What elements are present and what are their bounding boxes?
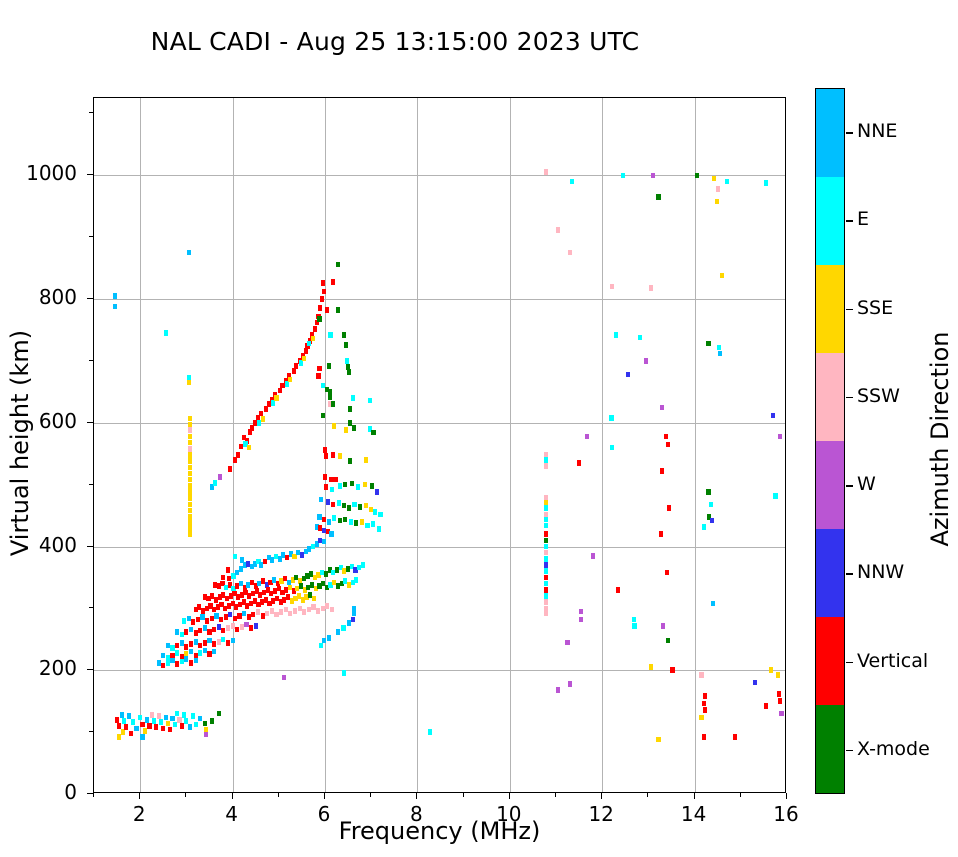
scatter-point <box>354 577 358 583</box>
scatter-point <box>344 342 348 348</box>
scatter-point <box>644 358 648 364</box>
scatter-point <box>210 616 214 622</box>
scatter-point <box>556 227 560 233</box>
scatter-point <box>117 734 121 740</box>
scatter-point <box>117 723 121 729</box>
scatter-point <box>368 398 372 404</box>
scatter-points <box>94 98 785 792</box>
scatter-point <box>342 503 346 509</box>
scatter-point <box>776 672 780 678</box>
scatter-point <box>771 413 775 419</box>
colorbar-tick <box>846 132 853 133</box>
colorbar-tick <box>846 573 853 574</box>
scatter-point <box>328 332 332 338</box>
scatter-point <box>667 505 671 511</box>
scatter-point <box>207 638 211 644</box>
scatter-point <box>317 366 321 372</box>
colorbar-tick <box>846 220 853 221</box>
scatter-point <box>267 401 271 407</box>
scatter-point <box>184 656 188 662</box>
scatter-point <box>188 471 192 477</box>
colorbar-segment[interactable] <box>816 89 844 177</box>
scatter-point <box>244 622 248 628</box>
scatter-point <box>348 406 352 412</box>
scatter-point <box>338 453 342 459</box>
scatter-point <box>274 395 278 401</box>
scatter-point <box>180 723 184 729</box>
scatter-point <box>375 489 379 495</box>
scatter-point <box>188 508 192 514</box>
scatter-point <box>213 480 217 486</box>
scatter-point <box>338 518 342 524</box>
scatter-point <box>321 280 325 286</box>
y-tick <box>87 174 93 175</box>
scatter-point <box>265 611 269 617</box>
scatter-point <box>233 616 237 622</box>
scatter-point <box>323 474 327 480</box>
scatter-point <box>304 348 308 354</box>
scatter-point <box>170 658 174 664</box>
colorbar-segment[interactable] <box>816 353 844 441</box>
y-tick-minor <box>89 731 93 732</box>
scatter-point <box>221 575 225 581</box>
scatter-point <box>194 658 198 664</box>
scatter-point <box>203 625 207 631</box>
scatter-point <box>351 395 355 401</box>
scatter-point <box>226 625 230 631</box>
scatter-point <box>332 423 336 429</box>
scatter-point <box>280 383 284 389</box>
scatter-point <box>251 612 255 618</box>
scatter-point <box>188 531 192 537</box>
scatter-point <box>544 523 548 529</box>
scatter-point <box>188 458 192 464</box>
scatter-point <box>365 523 369 529</box>
scatter-point <box>242 611 246 617</box>
scatter-point <box>321 606 325 612</box>
scatter-point <box>764 703 768 709</box>
scatter-point <box>164 715 168 721</box>
scatter-point <box>188 502 192 508</box>
y-tick-label: 0 <box>0 780 77 804</box>
scatter-point <box>703 693 707 699</box>
scatter-point <box>356 484 360 490</box>
scatter-point <box>134 726 138 732</box>
scatter-point <box>773 493 777 499</box>
scatter-point <box>666 442 670 448</box>
scatter-point <box>373 509 377 515</box>
scatter-point <box>157 713 161 719</box>
scatter-point <box>198 643 202 649</box>
scatter-point <box>316 373 320 379</box>
x-tick-minor <box>185 793 186 797</box>
scatter-point <box>660 468 664 474</box>
scatter-point <box>279 609 283 615</box>
scatter-point <box>188 465 192 471</box>
scatter-point <box>664 434 668 440</box>
y-tick-minor <box>89 484 93 485</box>
scatter-point <box>779 711 783 717</box>
scatter-point <box>336 307 340 313</box>
scatter-point <box>228 466 232 472</box>
scatter-point <box>188 520 192 526</box>
scatter-point <box>166 721 170 727</box>
colorbar-tick <box>846 485 853 486</box>
scatter-point <box>336 262 340 268</box>
scatter-point <box>253 420 257 426</box>
scatter-point <box>544 544 548 550</box>
scatter-point <box>321 383 325 389</box>
scatter-point <box>351 617 355 623</box>
scatter-point <box>288 377 292 383</box>
scatter-point <box>247 614 251 620</box>
scatter-point <box>753 680 757 686</box>
scatter-point <box>349 519 353 525</box>
scatter-point <box>219 617 223 623</box>
scatter-point <box>166 643 170 649</box>
scatter-point <box>358 504 362 510</box>
scatter-point <box>428 729 432 735</box>
scatter-point <box>378 512 382 518</box>
scatter-point <box>345 358 349 364</box>
scatter-point <box>336 629 340 635</box>
scatter-point <box>188 452 192 458</box>
scatter-point <box>198 716 202 722</box>
scatter-point <box>140 734 144 740</box>
scatter-point <box>210 718 214 724</box>
scatter-point <box>342 332 346 338</box>
scatter-point <box>695 173 699 179</box>
scatter-point <box>706 489 710 495</box>
colorbar[interactable] <box>815 88 845 794</box>
scatter-point <box>307 607 311 613</box>
scatter-point <box>203 640 207 646</box>
scatter-point <box>224 614 228 620</box>
x-tick <box>694 793 695 799</box>
chart-title: NAL CADI - Aug 25 13:15:00 2023 UTC <box>0 27 790 56</box>
scatter-point <box>325 603 329 609</box>
scatter-point <box>665 570 669 576</box>
y-tick <box>87 669 93 670</box>
scatter-point <box>324 484 328 490</box>
scatter-point <box>699 715 703 721</box>
scatter-point <box>293 608 297 614</box>
scatter-point <box>591 553 595 559</box>
scatter-point <box>188 446 192 452</box>
colorbar-label-x-mode: X-mode <box>857 738 930 760</box>
scatter-point <box>194 630 198 636</box>
scatter-point <box>544 550 548 556</box>
colorbar-label-w: W <box>857 473 876 495</box>
scatter-point <box>660 405 664 411</box>
y-tick-minor <box>89 236 93 237</box>
scatter-point <box>720 273 724 279</box>
scatter-point <box>261 416 265 422</box>
scatter-point <box>188 514 192 520</box>
scatter-point <box>610 445 614 451</box>
scatter-point <box>711 601 715 607</box>
colorbar-title: Azimuth Direction <box>926 279 954 599</box>
scatter-point <box>247 445 251 451</box>
scatter-point <box>364 457 368 463</box>
scatter-point <box>161 653 165 659</box>
scatter-point <box>769 667 773 673</box>
x-tick <box>416 793 417 799</box>
scatter-point <box>616 587 620 593</box>
scatter-point <box>203 721 207 727</box>
scatter-point <box>702 524 706 530</box>
scatter-point <box>370 483 374 489</box>
scatter-point <box>311 604 315 610</box>
scatter-point <box>274 612 278 618</box>
scatter-point <box>182 712 186 718</box>
scatter-point <box>338 483 342 489</box>
scatter-point <box>127 713 131 719</box>
scatter-point <box>233 554 237 560</box>
scatter-point <box>343 482 347 488</box>
scatter-point <box>140 722 144 728</box>
scatter-point <box>778 434 782 440</box>
scatter-point <box>316 608 320 614</box>
scatter-point <box>610 284 614 290</box>
scatter-point <box>666 638 670 644</box>
scatter-point <box>764 180 768 186</box>
scatter-point <box>187 380 191 386</box>
plot-area <box>93 97 786 793</box>
y-tick <box>87 793 93 794</box>
colorbar-label-nne: NNE <box>857 120 897 142</box>
scatter-point <box>350 481 354 487</box>
scatter-point <box>544 599 548 605</box>
scatter-point <box>264 406 268 412</box>
scatter-point <box>544 587 548 593</box>
scatter-point <box>189 627 193 633</box>
x-tick-minor <box>278 793 279 797</box>
scatter-point <box>261 613 265 619</box>
colorbar-segment[interactable] <box>816 441 844 529</box>
scatter-point <box>323 447 327 453</box>
scatter-point <box>331 401 335 407</box>
x-tick <box>139 793 140 799</box>
scatter-point <box>313 326 317 332</box>
scatter-point <box>337 500 341 506</box>
y-tick-minor <box>89 607 93 608</box>
scatter-point <box>217 711 221 717</box>
scatter-point <box>544 611 548 617</box>
scatter-point <box>329 477 333 483</box>
scatter-point <box>147 723 151 729</box>
scatter-point <box>544 575 548 581</box>
y-tick <box>87 298 93 299</box>
y-tick <box>87 422 93 423</box>
scatter-point <box>239 444 243 450</box>
scatter-point <box>282 675 286 681</box>
scatter-point <box>184 629 188 635</box>
scatter-point <box>188 427 192 433</box>
scatter-point <box>150 712 154 718</box>
scatter-point <box>656 194 660 200</box>
scatter-point <box>311 336 315 342</box>
scatter-point <box>321 413 325 419</box>
x-tick <box>601 793 602 799</box>
colorbar-tick <box>846 662 853 663</box>
scatter-point <box>322 517 326 523</box>
scatter-point <box>131 719 135 725</box>
scatter-point <box>204 732 208 738</box>
scatter-point <box>703 707 707 713</box>
scatter-point <box>649 285 653 291</box>
scatter-point <box>322 289 326 295</box>
scatter-point <box>191 619 195 625</box>
scatter-point <box>341 625 345 631</box>
scatter-point <box>327 635 331 641</box>
scatter-point <box>556 687 560 693</box>
scatter-point <box>317 316 321 322</box>
scatter-point <box>325 307 329 313</box>
scatter-point <box>161 663 165 669</box>
scatter-point <box>717 345 721 351</box>
scatter-point <box>371 430 375 436</box>
scatter-point <box>544 517 548 523</box>
colorbar-segment[interactable] <box>816 265 844 353</box>
scatter-point <box>226 567 230 573</box>
scatter-point <box>226 640 230 646</box>
scatter-point <box>292 368 296 374</box>
scatter-point <box>347 369 351 375</box>
scatter-point <box>544 169 548 175</box>
scatter-point <box>544 562 548 568</box>
scatter-point <box>184 644 188 650</box>
scatter-point <box>180 640 184 646</box>
scatter-point <box>585 434 589 440</box>
scatter-point <box>250 425 254 431</box>
scatter-point <box>318 305 322 311</box>
scatter-point <box>778 698 782 704</box>
colorbar-segment[interactable] <box>816 617 844 705</box>
scatter-point <box>352 611 356 617</box>
scatter-point <box>188 434 192 440</box>
scatter-point <box>124 724 128 730</box>
scatter-point <box>189 641 193 647</box>
colorbar-segment[interactable] <box>816 177 844 265</box>
scatter-point <box>175 711 179 717</box>
y-tick-label: 200 <box>0 656 77 680</box>
scatter-point <box>188 724 192 730</box>
scatter-point <box>302 609 306 615</box>
scatter-point <box>320 296 324 302</box>
scatter-point <box>298 606 302 612</box>
scatter-point <box>270 608 274 614</box>
scatter-point <box>709 502 713 508</box>
scatter-point <box>670 667 674 673</box>
scatter-point <box>166 660 170 666</box>
scatter-point <box>579 617 583 623</box>
scatter-point <box>188 483 192 489</box>
scatter-point <box>200 614 204 620</box>
scatter-point <box>115 717 119 723</box>
y-tick-label: 1000 <box>0 161 77 185</box>
scatter-point <box>621 173 625 179</box>
scatter-point <box>327 363 331 369</box>
colorbar-tick <box>846 309 853 310</box>
y-tick-minor <box>89 112 93 113</box>
scatter-point <box>170 645 174 651</box>
x-axis-title: Frequency (MHz) <box>93 817 786 845</box>
scatter-point <box>307 341 311 347</box>
scatter-point <box>330 487 334 493</box>
scatter-point <box>568 250 572 256</box>
scatter-point <box>777 691 781 697</box>
scatter-point <box>710 518 714 524</box>
scatter-point <box>352 425 356 431</box>
scatter-point <box>577 460 581 466</box>
colorbar-segment[interactable] <box>816 529 844 617</box>
scatter-point <box>332 515 336 521</box>
scatter-point <box>175 629 179 635</box>
colorbar-label-sse: SSE <box>857 297 893 319</box>
scatter-point <box>702 734 706 740</box>
scatter-point <box>212 641 216 647</box>
scatter-point <box>236 452 240 458</box>
scatter-point <box>189 660 193 666</box>
scatter-point <box>187 616 191 622</box>
scatter-point <box>544 505 548 511</box>
scatter-point <box>177 717 181 723</box>
scatter-point <box>331 452 335 458</box>
colorbar-segment[interactable] <box>816 705 844 793</box>
scatter-point <box>632 623 636 629</box>
scatter-point <box>205 618 209 624</box>
scatter-point <box>231 638 235 644</box>
scatter-point <box>227 576 231 582</box>
x-tick <box>509 793 510 799</box>
scatter-point <box>154 724 158 730</box>
x-tick <box>324 793 325 799</box>
scatter-point <box>175 650 179 656</box>
x-tick <box>232 793 233 799</box>
scatter-point <box>207 629 211 635</box>
scatter-point <box>168 727 172 733</box>
scatter-point <box>363 482 367 488</box>
scatter-point <box>348 458 352 464</box>
scatter-point <box>352 606 356 612</box>
scatter-point <box>699 672 703 678</box>
scatter-point <box>352 502 356 508</box>
scatter-point <box>568 681 572 687</box>
scatter-point <box>364 503 368 509</box>
scatter-point <box>254 623 258 629</box>
scatter-point <box>725 179 729 185</box>
scatter-point <box>328 394 332 400</box>
scatter-point <box>544 538 548 544</box>
scatter-point <box>191 713 195 719</box>
scatter-point <box>632 617 636 623</box>
scatter-point <box>161 726 165 732</box>
scatter-point <box>231 623 235 629</box>
colorbar-label-nnw: NNW <box>857 561 904 583</box>
scatter-point <box>331 502 335 508</box>
scatter-point <box>212 627 216 633</box>
scatter-point <box>145 717 149 723</box>
scatter-point <box>326 499 330 505</box>
scatter-point <box>212 649 216 655</box>
scatter-point <box>649 664 653 670</box>
scatter-point <box>377 526 381 532</box>
scatter-point <box>327 519 331 525</box>
scatter-point <box>217 624 221 630</box>
scatter-point <box>175 661 179 667</box>
scatter-point <box>361 562 365 568</box>
